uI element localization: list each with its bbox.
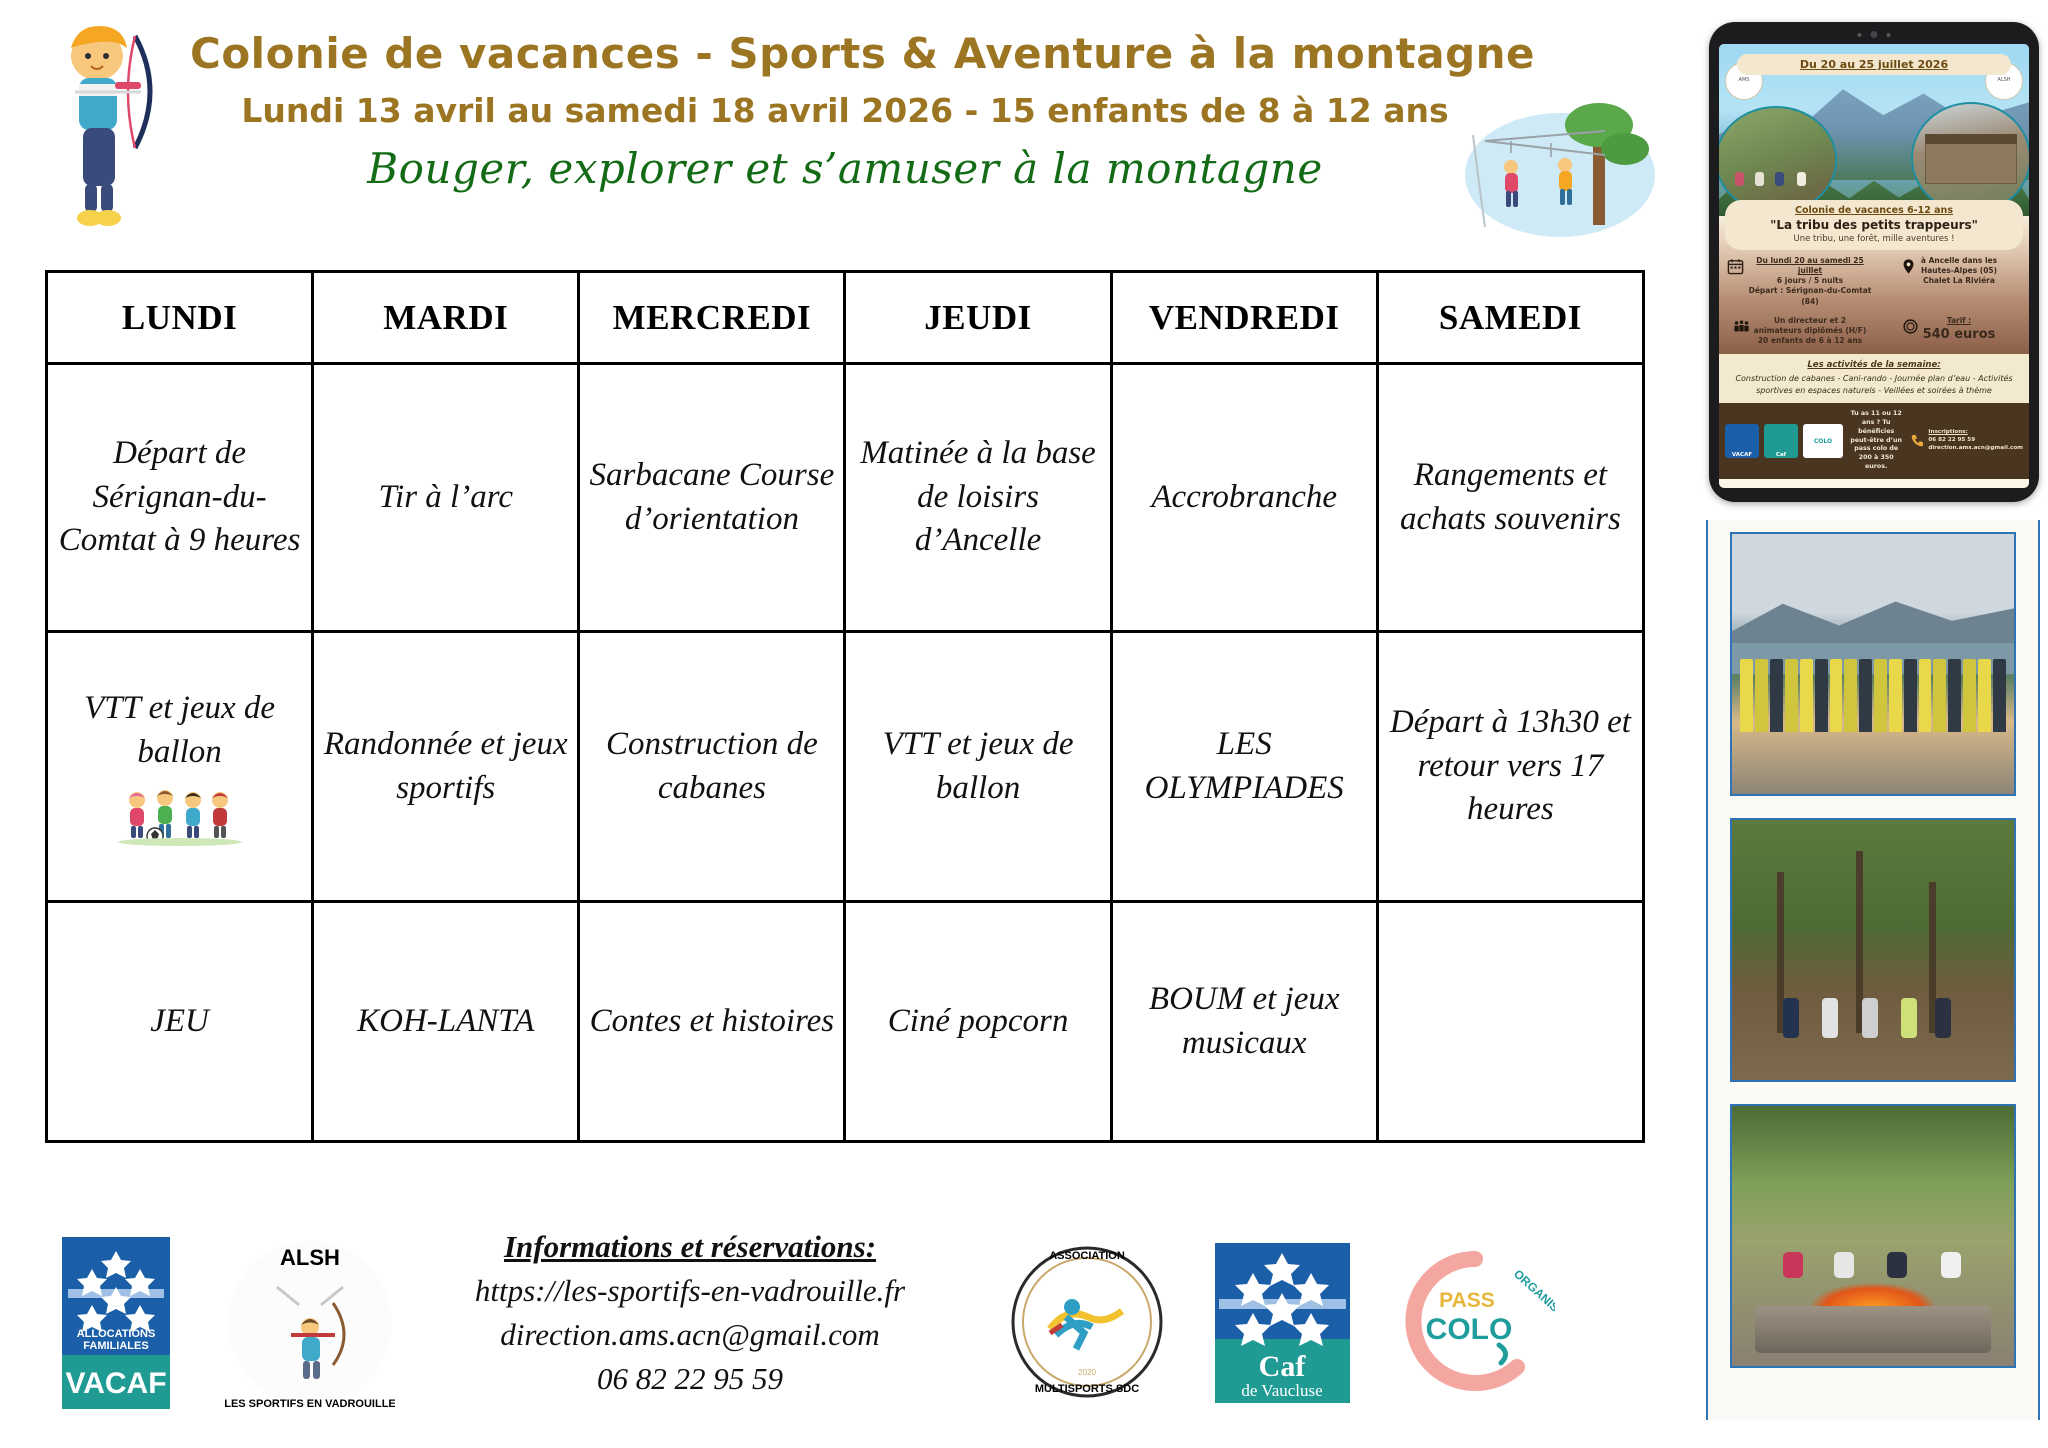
group-lake-photo [1730,532,2016,796]
info-staff: Un directeur et 2 animateurs diplômés (H… [1727,316,1872,346]
contact-block: Informations et réservations: https://le… [420,1225,960,1401]
poster-photo-chalet [1911,102,2029,214]
table-row: Départ de Sérignan-du-Comtat à 9 heures … [47,364,1644,632]
cell-text: VTT et jeux de ballon [56,687,303,775]
svg-text:PASS: PASS [1439,1289,1495,1312]
main-column: Colonie de vacances - Sports & Aventure … [0,0,1690,1448]
header-text-block: Colonie de vacances - Sports & Aventure … [190,30,1500,193]
svg-text:ORGANISATEUR: ORGANISATEUR [1511,1267,1555,1342]
caf-vaucluse-logo-icon: Caf de Vaucluse [1215,1243,1350,1403]
poster-kicker: Colonie de vacances 6-12 ans [1729,205,2019,216]
svg-text:FAMILIALES: FAMILIALES [83,1340,148,1352]
activities-text: Construction de cabanes - Cani-rando - J… [1727,373,2021,396]
phone-number: 06 82 22 95 59 [420,1357,960,1401]
cell-apresmidi-samedi: Départ à 13h30 et retour vers 17 heures [1377,632,1643,902]
table-header-row: LUNDI MARDI MERCREDI JEUDI VENDREDI SAME… [47,272,1644,364]
vacaf-logo-icon: ALLOCATIONS FAMILIALES VACAF [62,1237,170,1409]
activities-title: Les activités de la semaine: [1727,360,2021,370]
column-header-vendredi: VENDREDI [1111,272,1377,364]
poster-info-section: Colonie de vacances 6-12 ans "La tribu d… [1719,216,2029,354]
poster-caf-logo-icon: Caf [1764,424,1798,458]
poster-registration-text: Inscriptions: 06 82 22 95 59 direction.a… [1928,429,2023,452]
column-header-jeudi: JEUDI [845,272,1111,364]
cell-matin-jeudi: Matinée à la base de loisirs d’Ancelle [845,364,1111,632]
info-dates: Du lundi 20 au samedi 25 juillet 6 jours… [1727,256,1872,307]
cell-matin-vendredi: Accrobranche [1111,364,1377,632]
poster-registration-block: Inscriptions: 06 82 22 95 59 direction.a… [1909,429,2023,452]
poster-vacaf-logo-icon: VACAF [1725,424,1759,458]
cell-matin-mardi: Tir à l’arc [313,364,579,632]
column-header-mardi: MARDI [313,272,579,364]
svg-text:de Vaucluse: de Vaucluse [1241,1381,1322,1400]
schedule-table-wrapper: LUNDI MARDI MERCREDI JEUDI VENDREDI SAME… [45,270,1645,1143]
info-dates-text: Du lundi 20 au samedi 25 juillet 6 jours… [1748,256,1872,307]
svg-text:VACAF: VACAF [65,1367,166,1400]
sidebar-column: AMS ALSH Du 20 au 25 juillet 2026 Coloni… [1700,0,2048,1448]
alsh-logo-icon: ALSH "LES SPORTIFS EN VADROUILLE" [225,1235,395,1410]
poster-date-text: Du 20 au 25 juillet 2026 [1743,58,2005,71]
info-price-text: Tarif : 540 euros [1923,316,1996,344]
cell-apresmidi-mercredi: Construction de cabanes [579,632,845,902]
photo-stack [1706,520,2040,1420]
page-subtitle: Lundi 13 avril au samedi 18 avril 2026 -… [190,92,1500,130]
cell-matin-mercredi: Sarbacane Course d’orientation [579,364,845,632]
poster-passcolo-logo-icon: COLO [1803,424,1843,458]
page-footer: ALLOCATIONS FAMILIALES VACAF ALSH [0,1215,1690,1435]
cell-soiree-vendredi: BOUM et jeux musicaux [1111,902,1377,1142]
cell-apresmidi-lundi: VTT et jeux de ballon [47,632,313,902]
svg-text:COLO: COLO [1426,1313,1513,1346]
poster-name-ribbon: Colonie de vacances 6-12 ans "La tribu d… [1725,200,2023,250]
column-header-lundi: LUNDI [47,272,313,364]
people-icon [1733,318,1750,335]
column-header-samedi: SAMEDI [1377,272,1643,364]
info-location-text: à Ancelle dans les Hautes-Alpes (05) Cha… [1921,256,1997,286]
info-staff-text: Un directeur et 2 animateurs diplômés (H… [1754,316,1867,346]
poster-partners-bar: VACAF Caf COLO Tu as 11 ou 12 ans ? Tu b… [1719,403,2029,479]
cell-soiree-mercredi: Contes et histoires [579,902,845,1142]
map-pin-icon [1900,258,1917,275]
poster-photo-campfire [1719,106,1837,214]
cell-soiree-lundi: JEU [47,902,313,1142]
contact-title: Informations et réservations: [420,1225,960,1269]
poster-hero: AMS ALSH Du 20 au 25 juillet 2026 [1719,44,2029,216]
poster-passcolo-text: Tu as 11 ou 12 ans ? Tu bénéficies peut-… [1848,410,1904,472]
pass-colo-logo-icon: PASS COLO ORGANISATEUR [1395,1245,1555,1400]
svg-text:MULTISPORTS SDC: MULTISPORTS SDC [1035,1383,1139,1395]
cell-soiree-jeudi: Ciné popcorn [845,902,1111,1142]
accrobranche-illustration-icon [1465,95,1655,240]
poster-name: "La tribu des petits trappeurs" [1729,218,2019,232]
page-header: Colonie de vacances - Sports & Aventure … [0,0,1690,262]
phone-icon [1909,433,1925,449]
poster-info-row-1: Du lundi 20 au samedi 25 juillet 6 jours… [1727,256,2021,307]
svg-text:ALLOCATIONS: ALLOCATIONS [77,1328,156,1340]
table-row: JEU KOH-LANTA Contes et histoires Ciné p… [47,902,1644,1142]
cell-soiree-samedi [1377,902,1643,1142]
info-price: Tarif : 540 euros [1876,316,2021,346]
children-playing-ball-icon [115,784,245,846]
svg-text:ALSH: ALSH [280,1245,340,1270]
column-header-mercredi: MERCREDI [579,272,845,364]
coin-icon [1902,318,1919,335]
table-row: VTT et jeux de ballon [47,632,1644,902]
info-location: à Ancelle dans les Hautes-Alpes (05) Cha… [1876,256,2021,307]
poster-date-banner: Du 20 au 25 juillet 2026 [1737,54,2011,75]
cell-matin-lundi: Départ de Sérignan-du-Comtat à 9 heures [47,364,313,632]
archer-mascot-icon [35,18,185,248]
cell-matin-samedi: Rangements et achats souvenirs [1377,364,1643,632]
svg-text:2020: 2020 [1078,1368,1096,1377]
website-link[interactable]: https://les-sportifs-en-vadrouille.fr [420,1269,960,1313]
campfire-photo [1730,1104,2016,1368]
page-tagline: Bouger, explorer et s’amuser à la montag… [190,144,1500,193]
forest-cabane-photo [1730,818,2016,1082]
svg-text:ASSOCIATION: ASSOCIATION [1049,1250,1125,1262]
poster-info-row-2: Un directeur et 2 animateurs diplômés (H… [1727,316,2021,346]
page-title: Colonie de vacances - Sports & Aventure … [190,30,1500,78]
cell-apresmidi-vendredi: LES OLYMPIADES [1111,632,1377,902]
tablet-mockup: AMS ALSH Du 20 au 25 juillet 2026 Coloni… [1709,22,2039,502]
tablet-camera-icon [1858,31,1891,38]
cell-soiree-mardi: KOH-LANTA [313,902,579,1142]
calendar-icon [1727,258,1744,275]
schedule-table: LUNDI MARDI MERCREDI JEUDI VENDREDI SAME… [45,270,1645,1143]
poster-activities-section: Les activités de la semaine: Constructio… [1719,354,2029,403]
poster-page: Colonie de vacances - Sports & Aventure … [0,0,2048,1448]
cell-apresmidi-mardi: Randonnée et jeux sportifs [313,632,579,902]
poster-tagline: Une tribu, une forêt, mille aventures ! [1729,234,2019,244]
poster-screen: AMS ALSH Du 20 au 25 juillet 2026 Coloni… [1719,44,2029,488]
svg-text:Caf: Caf [1259,1350,1307,1383]
svg-text:"LES SPORTIFS EN VADROUILLE": "LES SPORTIFS EN VADROUILLE" [225,1398,395,1410]
email-link[interactable]: direction.ams.acn@gmail.com [420,1313,960,1357]
association-multisports-logo-icon: ASSOCIATION MULTISPORTS SDC 2020 [1010,1237,1165,1407]
cell-apresmidi-jeudi: VTT et jeux de ballon [845,632,1111,902]
